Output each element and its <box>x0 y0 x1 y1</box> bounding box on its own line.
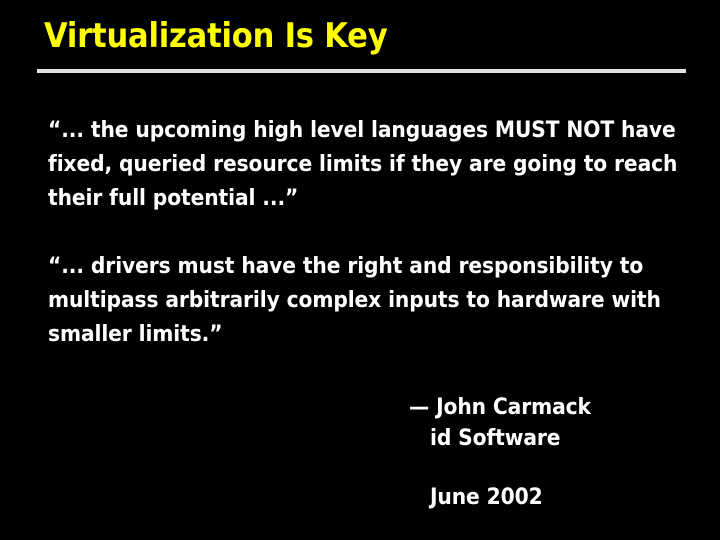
attribution-organization: id Software <box>409 423 591 454</box>
title-divider <box>37 69 686 73</box>
page-title: Virtualization Is Key <box>44 14 387 58</box>
attribution-author: — John Carmack <box>409 392 591 423</box>
attribution-date: June 2002 <box>430 482 543 513</box>
paragraph-spacer <box>48 215 688 249</box>
quote-paragraph-2: “... drivers must have the right and res… <box>48 249 688 351</box>
quote-block: “... the upcoming high level languages M… <box>48 113 688 351</box>
quote-paragraph-1: “... the upcoming high level languages M… <box>48 113 688 215</box>
attribution-block: — John Carmack id Software <box>409 392 591 454</box>
slide-canvas: Virtualization Is Key “... the upcoming … <box>0 0 720 540</box>
